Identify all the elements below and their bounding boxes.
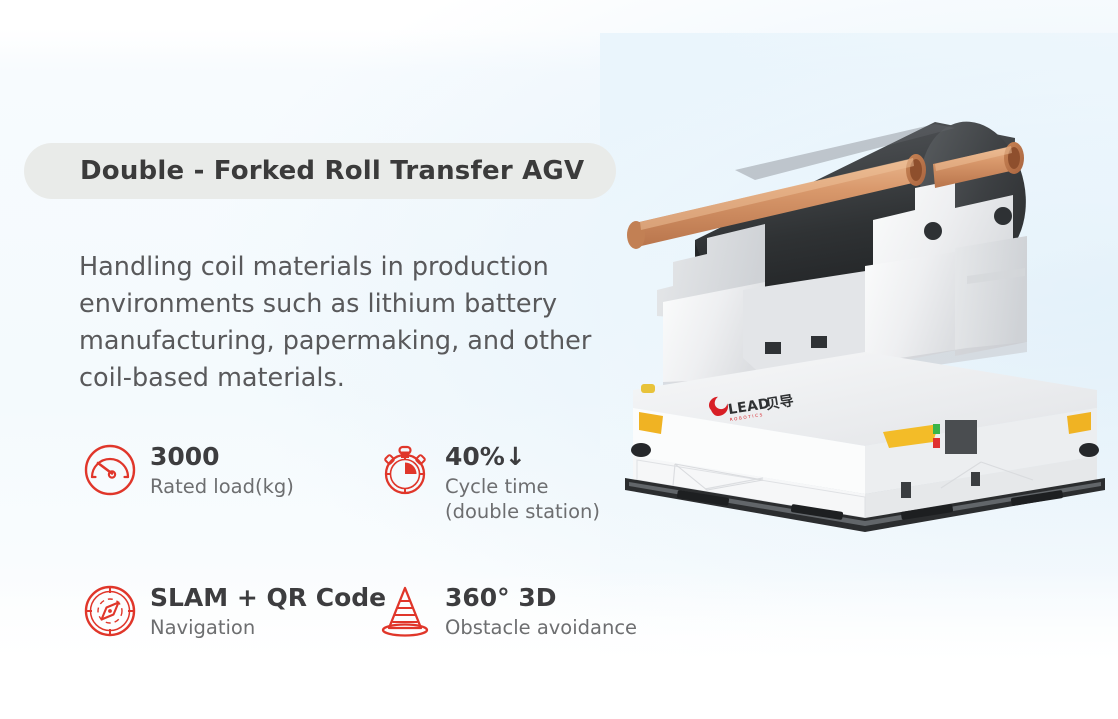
caster-right (1079, 443, 1099, 457)
compass-icon (79, 580, 141, 642)
spec-value: SLAM + QR Code (150, 584, 386, 612)
gauge-icon (79, 439, 141, 501)
spec-list: 3000 Rated load(kg) (79, 437, 679, 642)
spec-row-1: 3000 Rated load(kg) (79, 437, 679, 524)
stopwatch-icon (374, 439, 436, 501)
product-description: Handling coil materials in production en… (79, 249, 644, 397)
spec-value: 40%↓ (445, 443, 600, 471)
spec-label: Obstacle avoidance (445, 615, 637, 640)
product-spec-slide: LEAD 贝导 ROBOTICS (0, 0, 1118, 719)
spec-item-cycle-time: 40%↓ Cycle time (double station) (374, 437, 669, 524)
spec-text-cycle-time: 40%↓ Cycle time (double station) (445, 437, 600, 524)
spec-value: 3000 (150, 443, 294, 471)
page-title-pill: Double - Forked Roll Transfer AGV (24, 143, 616, 199)
spec-item-obstacle-avoidance: 360° 3D Obstacle avoidance (374, 578, 669, 642)
spec-label: Cycle time (445, 474, 600, 499)
traffic-cone-icon (374, 580, 436, 642)
control-panel (945, 420, 977, 454)
agv-product-image: LEAD 贝导 ROBOTICS (615, 90, 1115, 540)
spec-text-navigation: SLAM + QR Code Navigation (150, 578, 386, 640)
spec-row-2: SLAM + QR Code Navigation (79, 578, 679, 642)
spec-item-navigation: SLAM + QR Code Navigation (79, 578, 374, 642)
spec-item-rated-load: 3000 Rated load(kg) (79, 437, 374, 524)
spec-value: 360° 3D (445, 584, 637, 612)
page-title: Double - Forked Roll Transfer AGV (80, 156, 584, 186)
spec-label-secondary: (double station) (445, 499, 600, 524)
spec-label: Navigation (150, 615, 386, 640)
spec-text-rated-load: 3000 Rated load(kg) (150, 437, 294, 499)
spec-text-obstacle-avoidance: 360° 3D Obstacle avoidance (445, 578, 637, 640)
spec-label: Rated load(kg) (150, 474, 294, 499)
